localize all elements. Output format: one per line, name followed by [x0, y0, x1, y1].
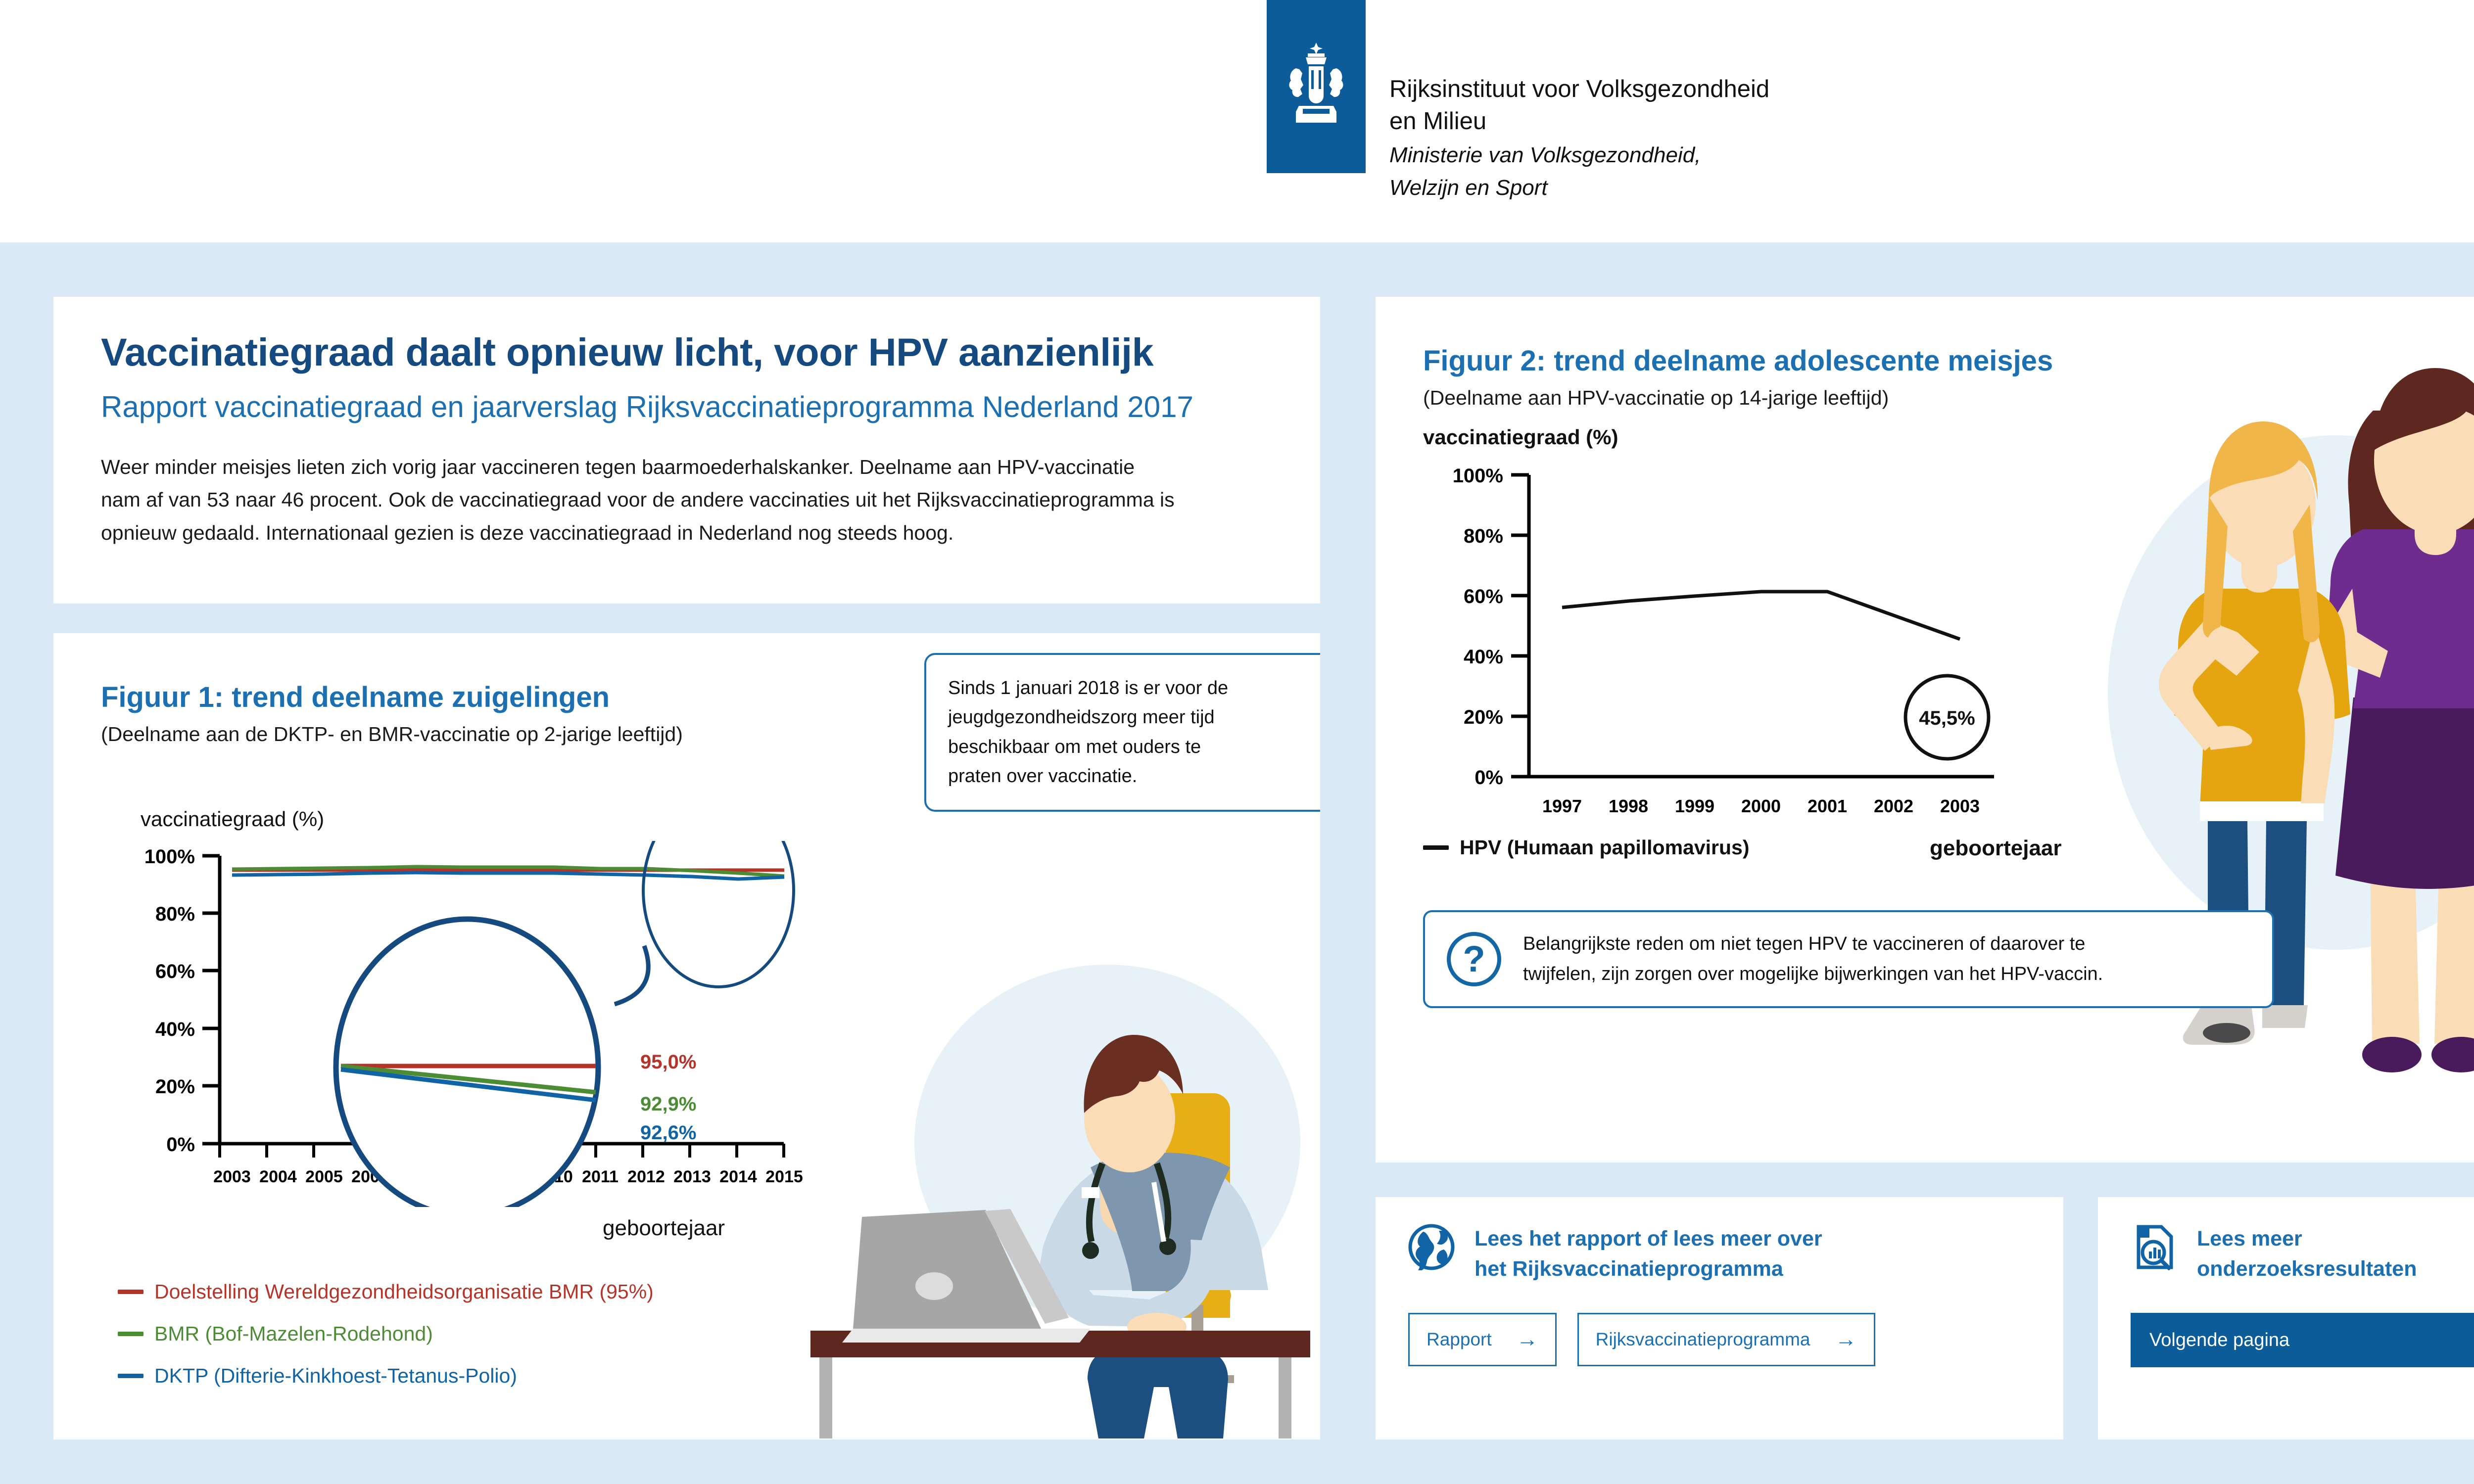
logo-org-line1: Rijksinstituut voor Volksgezondheid: [1389, 73, 1769, 105]
legend-dash-bmr: [118, 1332, 143, 1336]
legend-item-target: Doelstelling Wereldgezondheidsorganisati…: [118, 1280, 654, 1303]
logo-ministry-line1: Ministerie van Volksgezondheid,: [1389, 140, 1769, 170]
figure2-x-axis-title: geboortejaar: [1930, 836, 2062, 861]
figure1-card: Figuur 1: trend deelname zuigelingen (De…: [53, 633, 1320, 1439]
rapport-button-label: Rapport: [1427, 1329, 1492, 1350]
cta-research-buttons: Volgende pagina →: [2131, 1313, 2474, 1367]
series-hpv: [1562, 592, 1960, 639]
intro-line-3: opnieuw gedaald. Internationaal gezien i…: [101, 516, 1273, 549]
page-header: Rijksinstituut voor Volksgezondheid en M…: [0, 0, 2474, 242]
f2-x-tick-2003: 2003: [1940, 796, 1980, 816]
arrow-right-icon: →: [1835, 1329, 1857, 1350]
logo-blue-bar: [1267, 0, 1366, 173]
figure1-label-bmr: 92,9%: [640, 1093, 696, 1115]
f2-y-tick-20: 20%: [1464, 706, 1503, 728]
legend-label-target: Doelstelling Wereldgezondheidsorganisati…: [154, 1280, 654, 1303]
figure2-value-bubble-label: 45,5%: [1919, 707, 1975, 729]
page-subtitle: Rapport vaccinatiegraad en jaarverslag R…: [101, 390, 1273, 424]
figure2-y-axis-title: vaccinatiegraad (%): [1423, 425, 1618, 449]
figure1-subtitle: (Deelname aan de DKTP- en BMR-vaccinatie…: [101, 723, 683, 746]
figure1-x-axis-title: geboortejaar: [603, 1216, 725, 1241]
figure2-info-box: ? Belangrijkste reden om niet tegen HPV …: [1423, 910, 2274, 1008]
figure1-y-axis-title: vaccinatiegraad (%): [141, 807, 324, 831]
y-tick-80: 80%: [155, 903, 195, 925]
intro-line-2: nam af van 53 naar 46 procent. Ook de va…: [101, 483, 1273, 516]
f2-y-tick-60: 60%: [1464, 586, 1503, 607]
f2-x-tick-2002: 2002: [1874, 796, 1913, 816]
figure1-title: Figuur 1: trend deelname zuigelingen: [101, 681, 683, 714]
x-tick-2011: 2011: [582, 1167, 618, 1186]
series-dktp: [232, 873, 784, 879]
dutch-coat-of-arms-icon: [1284, 40, 1348, 134]
legend-item-bmr: BMR (Bof-Mazelen-Rodehond): [118, 1322, 654, 1345]
callout-line-2: jeugdgezondheidszorg meer tijd: [948, 703, 1311, 732]
page-title: Vaccinatiegraad daalt opnieuw licht, voo…: [101, 329, 1273, 375]
x-tick-2004: 2004: [259, 1167, 297, 1186]
legend-label-hpv: HPV (Humaan papillomavirus): [1460, 836, 1750, 859]
f2-x-tick-2001: 2001: [1808, 796, 1847, 816]
logo-org-line2: en Milieu: [1389, 105, 1769, 138]
x-tick-2003: 2003: [213, 1167, 251, 1186]
cta-research-title-line1: Lees meer: [2197, 1224, 2417, 1254]
info-line-2: twijfelen, zijn zorgen over mogelijke bi…: [1523, 959, 2103, 989]
callout-line-4: praten over vaccinatie.: [948, 762, 1311, 791]
y-tick-0: 0%: [166, 1134, 195, 1156]
y-tick-20: 20%: [155, 1076, 195, 1098]
figure2-title: Figuur 2: trend deelname adolescente mei…: [1423, 344, 2053, 377]
cta-report-card: Lees het rapport of lees meer over het R…: [1376, 1197, 2063, 1439]
volgende-pagina-button[interactable]: Volgende pagina →: [2131, 1313, 2474, 1367]
x-tick-2005: 2005: [305, 1167, 343, 1186]
figure2-card: Figuur 2: trend deelname adolescente mei…: [1376, 297, 2474, 1162]
legend-label-bmr: BMR (Bof-Mazelen-Rodehond): [154, 1322, 433, 1345]
cta-research-header: Lees meer onderzoeksresultaten: [2131, 1224, 2474, 1284]
figure1-label-target: 95,0%: [640, 1051, 696, 1073]
x-tick-2012: 2012: [627, 1167, 665, 1186]
arrow-right-icon: →: [1517, 1329, 1538, 1350]
intro-paragraph: Weer minder meisjes lieten zich vorig ja…: [101, 451, 1273, 549]
figure2-subtitle: (Deelname aan HPV-vaccinatie op 14-jarig…: [1423, 386, 2053, 410]
f2-y-tick-40: 40%: [1464, 646, 1503, 668]
f2-y-tick-0: 0%: [1475, 767, 1503, 788]
cta-research-card: Lees meer onderzoeksresultaten Volgende …: [2098, 1197, 2474, 1439]
legend-dash-target: [118, 1290, 143, 1294]
legend-dash-hpv: [1423, 845, 1449, 850]
question-mark-icon: ?: [1447, 932, 1501, 986]
rapport-button[interactable]: Rapport →: [1408, 1313, 1557, 1366]
figure2-info-text: Belangrijkste reden om niet tegen HPV te…: [1523, 929, 2103, 989]
legend-label-dktp: DKTP (Difterie-Kinkhoest-Tetanus-Polio): [154, 1364, 517, 1388]
globe-icon: [1408, 1224, 1455, 1270]
x-tick-2013: 2013: [673, 1167, 711, 1186]
figure1-chart: 100% 80% 60% 40% 20% 0%: [101, 841, 823, 1207]
document-search-icon: [2131, 1224, 2177, 1270]
figure1-legend: Doelstelling Wereldgezondheidsorganisati…: [118, 1261, 654, 1388]
f2-x-tick-1997: 1997: [1542, 796, 1582, 816]
y-tick-40: 40%: [155, 1019, 195, 1040]
x-tick-2015: 2015: [765, 1167, 803, 1186]
legend-item-dktp: DKTP (Difterie-Kinkhoest-Tetanus-Polio): [118, 1364, 654, 1388]
volgende-pagina-button-label: Volgende pagina: [2149, 1330, 2289, 1351]
cta-report-buttons: Rapport → Rijksvaccinatieprogramma →: [1408, 1313, 2031, 1366]
f2-x-tick-1999: 1999: [1675, 796, 1714, 816]
callout-line-3: beschikbaar om met ouders te: [948, 733, 1311, 762]
page-body: Vaccinatiegraad daalt opnieuw licht, voo…: [0, 242, 2474, 1484]
f2-y-tick-80: 80%: [1464, 525, 1503, 547]
intro-line-1: Weer minder meisjes lieten zich vorig ja…: [101, 451, 1273, 483]
figure1-callout-box: Sinds 1 januari 2018 is er voor de jeugd…: [924, 653, 1320, 812]
legend-dash-dktp: [118, 1374, 143, 1378]
cta-report-header: Lees het rapport of lees meer over het R…: [1408, 1224, 2031, 1284]
y-tick-100: 100%: [144, 846, 195, 868]
y-tick-60: 60%: [155, 961, 195, 982]
rijksvaccinatieprogramma-button-label: Rijksvaccinatieprogramma: [1596, 1329, 1810, 1350]
cta-research-title: Lees meer onderzoeksresultaten: [2197, 1224, 2417, 1284]
figure2-legend: HPV (Humaan papillomavirus): [1423, 836, 1750, 859]
cta-report-title-line2: het Rijksvaccinatieprogramma: [1475, 1254, 1822, 1284]
info-line-1: Belangrijkste reden om niet tegen HPV te…: [1523, 929, 2103, 959]
cta-research-title-line2: onderzoeksresultaten: [2197, 1254, 2417, 1284]
f2-y-tick-100: 100%: [1453, 465, 1503, 487]
rijksvaccinatieprogramma-button[interactable]: Rijksvaccinatieprogramma →: [1577, 1313, 1875, 1366]
cta-report-title: Lees het rapport of lees meer over het R…: [1475, 1224, 1822, 1284]
rivm-logo: Rijksinstituut voor Volksgezondheid en M…: [1267, 0, 1769, 202]
logo-ministry-line2: Welzijn en Sport: [1389, 173, 1769, 202]
figure1-label-dktp: 92,6%: [640, 1122, 696, 1144]
x-tick-2014: 2014: [719, 1167, 757, 1186]
f2-x-tick-1998: 1998: [1609, 796, 1648, 816]
f2-x-tick-2000: 2000: [1741, 796, 1781, 816]
callout-line-1: Sinds 1 januari 2018 is er voor de: [948, 674, 1311, 703]
cta-report-title-line1: Lees het rapport of lees meer over: [1475, 1224, 1822, 1254]
intro-card: Vaccinatiegraad daalt opnieuw licht, voo…: [53, 297, 1320, 603]
figure2-chart: 100% 80% 60% 40% 20% 0% 1997 1998 1999 2…: [1405, 460, 2048, 851]
doctor-at-desk-illustration: [810, 940, 1320, 1439]
